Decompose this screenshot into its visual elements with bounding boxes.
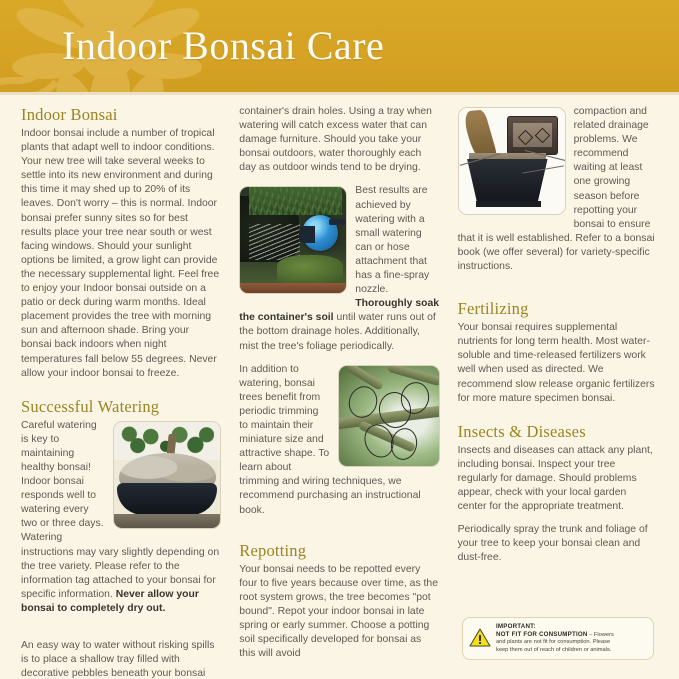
column-middle: container's drain holes. Using a tray wh… [230,105,448,679]
warning-line-important: IMPORTANT: [496,623,614,631]
column-right: compaction and related drainage problems… [449,105,667,679]
warning-line2-rest: – Flowers [588,632,614,638]
warning-triangle-icon [469,628,491,647]
content-columns: Indoor Bonsai Indoor bonsai include a nu… [0,95,679,679]
warning-line-3: and plants are not fit for consumption. … [496,639,614,647]
heading-repotting: Repotting [239,541,439,561]
page-header-banner: Indoor Bonsai Care [0,0,679,95]
heading-insects-diseases: Insects & Diseases [458,422,658,442]
paragraph-best-results-text: Best results are achieved by watering wi… [355,185,429,295]
paragraph-spray-trunk: Periodically spray the trunk and foliage… [458,523,658,565]
brochure-page: Indoor Bonsai Care Indoor Bonsai Indoor … [0,0,679,679]
heading-fertilizing: Fertilizing [458,299,658,319]
warning-bold-phrase: NOT FIT FOR CONSUMPTION [496,631,588,638]
repotting-pot-photo [458,107,566,215]
paragraph-indoor-bonsai: Indoor bonsai include a number of tropic… [21,127,221,381]
warning-text: IMPORTANT: NOT FIT FOR CONSUMPTION – Flo… [496,623,614,654]
warning-line-4: keep them out of reach of children or an… [496,647,614,655]
watering-nozzle-photo [239,186,347,294]
wired-branches-photo [338,365,440,467]
paragraph-drain-holes: container's drain holes. Using a tray wh… [239,105,439,175]
heading-successful-watering: Successful Watering [21,397,221,417]
page-title: Indoor Bonsai Care [62,22,384,69]
paragraph-pebble-tray: An easy way to water without risking spi… [21,639,221,679]
paragraph-fertilizing: Your bonsai requires supplemental nutrie… [458,321,658,406]
bonsai-in-dark-pot-photo [113,421,221,529]
warning-line-not-fit: NOT FIT FOR CONSUMPTION – Flowers [496,631,614,640]
paragraph-repotting: Your bonsai needs to be repotted every f… [239,563,439,662]
warning-box: IMPORTANT: NOT FIT FOR CONSUMPTION – Flo… [462,617,654,660]
heading-indoor-bonsai: Indoor Bonsai [21,105,221,125]
column-left: Indoor Bonsai Indoor bonsai include a nu… [12,105,230,679]
paragraph-insects: Insects and diseases can attack any plan… [458,444,658,514]
